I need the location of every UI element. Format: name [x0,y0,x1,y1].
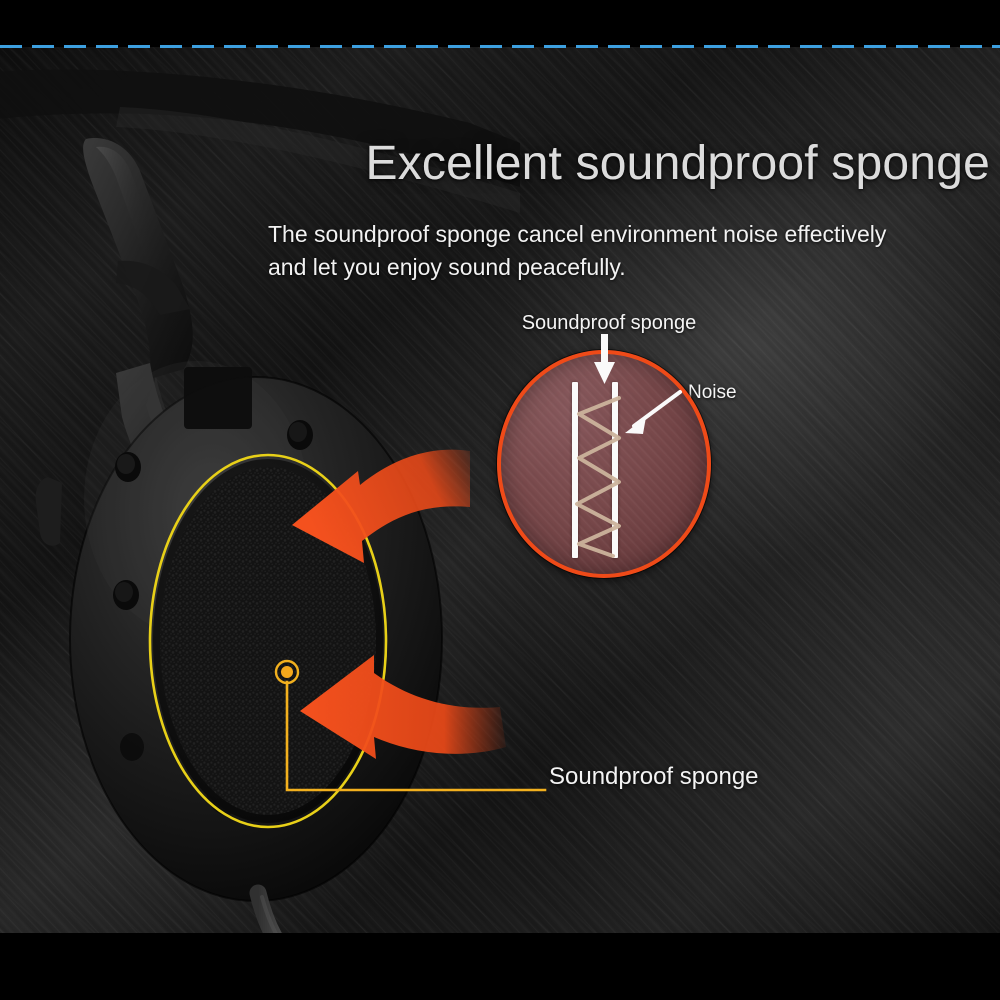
feature-banner: Excellent soundproof sponge The soundpro… [0,0,1000,1000]
subtitle-paragraph: The soundproof sponge cancel environment… [268,218,984,285]
headband-slider [83,138,193,379]
callout-label: Soundproof sponge [549,763,759,791]
subtitle-line-1: The soundproof sponge cancel environment… [268,218,984,251]
sound-wave-zigzag [501,354,707,574]
top-dashed-divider [0,45,1000,48]
diagram-circle [497,350,711,578]
cup-label-patch [184,367,252,429]
cable [258,893,316,933]
subtitle-line-2: and let you enjoy sound peacefully. [268,251,984,284]
cup-side-connector [36,477,62,546]
page-title: Excellent soundproof sponge [340,136,990,191]
soundproof-diagram: Soundproof sponge Noise [470,300,770,590]
diagram-title-label: Soundproof sponge [484,312,734,335]
